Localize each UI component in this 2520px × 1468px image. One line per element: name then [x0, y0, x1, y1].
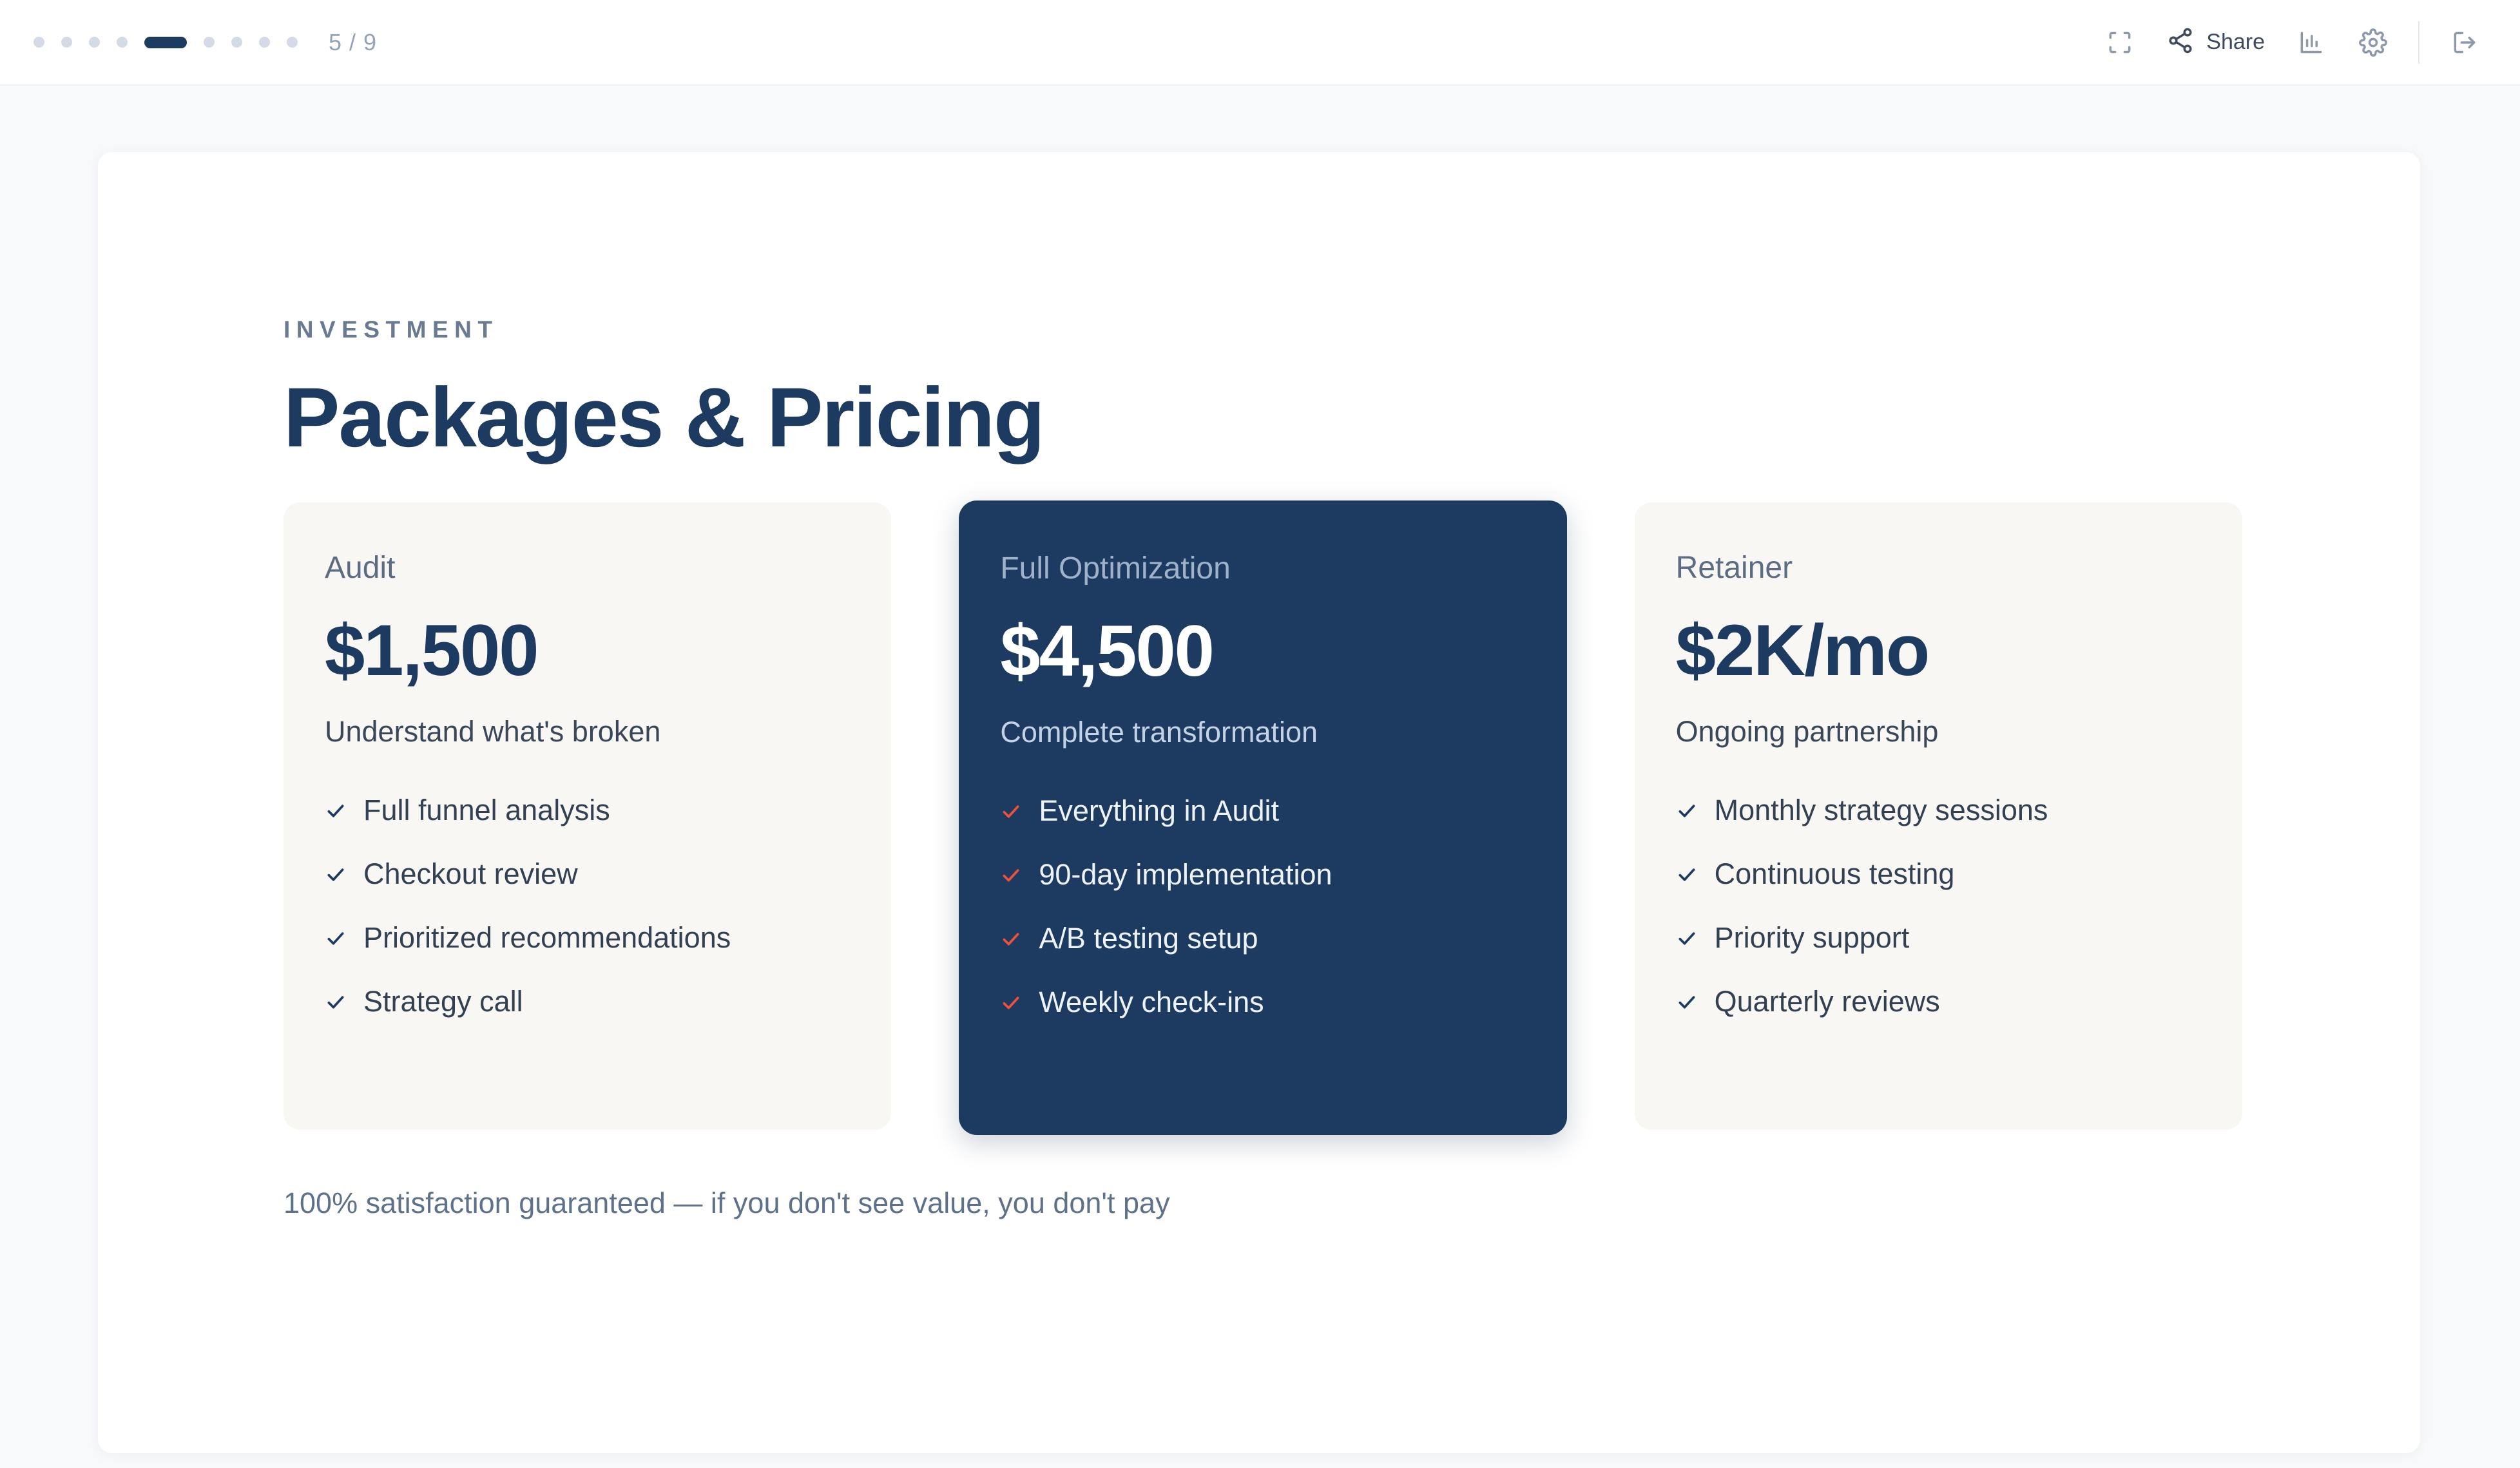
check-icon [325, 991, 347, 1013]
feature-label: Weekly check-ins [1039, 985, 1264, 1020]
feature-item: A/B testing setup [1000, 921, 1525, 957]
feature-item: Continuous testing [1676, 857, 2201, 892]
pagination-dot[interactable] [259, 37, 270, 48]
pagination-dot[interactable] [34, 37, 44, 48]
pagination-dots[interactable] [34, 37, 298, 48]
package-price: $1,500 [325, 613, 850, 689]
check-icon [1000, 864, 1022, 886]
pagination-dot[interactable] [204, 37, 215, 48]
feature-label: Checkout review [363, 857, 578, 892]
package-feature-list: Full funnel analysisCheckout reviewPrior… [325, 793, 850, 1020]
pricing-card[interactable]: Audit$1,500Understand what's brokenFull … [284, 502, 891, 1130]
package-name: Audit [325, 551, 850, 586]
page-title: Packages & Pricing [284, 372, 2242, 462]
check-icon [1000, 801, 1022, 823]
slide-content: INVESTMENT Packages & Pricing Audit$1,50… [284, 316, 2242, 1222]
feature-label: Prioritized recommendations [363, 920, 731, 956]
check-icon [1676, 928, 1698, 949]
pricing-card[interactable]: Retainer$2K/moOngoing partnershipMonthly… [1635, 502, 2242, 1130]
feature-item: Monthly strategy sessions [1676, 793, 2201, 828]
pagination-dot[interactable] [117, 37, 128, 48]
feature-item: Priority support [1676, 920, 2201, 956]
check-icon [1000, 992, 1022, 1014]
slide-navigation: 5 / 9 [26, 29, 377, 56]
feature-item: Checkout review [325, 857, 850, 892]
gear-icon [2359, 28, 2387, 57]
exit-icon [2450, 28, 2479, 57]
pricing-card-grid: Audit$1,500Understand what's brokenFull … [284, 502, 2242, 1135]
pagination-dot[interactable] [89, 37, 100, 48]
feature-label: Everything in Audit [1039, 794, 1279, 829]
package-name: Full Optimization [1000, 552, 1525, 586]
page-counter: 5 / 9 [329, 29, 377, 56]
pagination-dot[interactable] [287, 37, 298, 48]
slide-canvas: INVESTMENT Packages & Pricing Audit$1,50… [98, 152, 2420, 1453]
feature-item: Full funnel analysis [325, 793, 850, 828]
pricing-card-featured[interactable]: Full Optimization$4,500Complete transfor… [959, 500, 1566, 1135]
share-icon [2166, 26, 2195, 58]
feature-label: Continuous testing [1715, 857, 1955, 892]
check-icon [325, 864, 347, 886]
share-button[interactable]: Share [2151, 15, 2280, 70]
package-name: Retainer [1676, 551, 2201, 586]
toolbar-actions: Share [2089, 15, 2496, 70]
feature-item: Prioritized recommendations [325, 920, 850, 956]
feature-label: 90-day implementation [1039, 857, 1332, 893]
feature-item: Weekly check-ins [1000, 985, 1525, 1020]
feature-label: Full funnel analysis [363, 793, 610, 828]
bar-chart-icon [2297, 28, 2325, 57]
check-icon [1676, 864, 1698, 886]
fullscreen-button[interactable] [2089, 15, 2151, 70]
pagination-dot[interactable] [231, 37, 242, 48]
package-description: Ongoing partnership [1676, 714, 2201, 749]
guarantee-note: 100% satisfaction guaranteed — if you do… [284, 1185, 2242, 1221]
toolbar-divider [2418, 21, 2419, 64]
feature-item: 90-day implementation [1000, 857, 1525, 893]
feature-item: Quarterly reviews [1676, 984, 2201, 1020]
exit-button[interactable] [2434, 15, 2496, 70]
package-description: Understand what's broken [325, 714, 850, 749]
feature-label: Priority support [1715, 920, 1910, 956]
share-label: Share [2206, 30, 2265, 55]
feature-label: Monthly strategy sessions [1715, 793, 2048, 828]
feature-label: Quarterly reviews [1715, 984, 1940, 1020]
analytics-button[interactable] [2280, 15, 2342, 70]
pagination-dot[interactable] [61, 37, 72, 48]
section-eyebrow: INVESTMENT [284, 316, 2242, 343]
package-price: $4,500 [1000, 613, 1525, 689]
package-feature-list: Everything in Audit90-day implementation… [1000, 794, 1525, 1020]
settings-button[interactable] [2342, 15, 2404, 70]
top-toolbar: 5 / 9 S [0, 0, 2520, 86]
package-feature-list: Monthly strategy sessionsContinuous test… [1676, 793, 2201, 1020]
check-icon [325, 928, 347, 949]
feature-item: Strategy call [325, 984, 850, 1020]
check-icon [325, 800, 347, 822]
feature-label: Strategy call [363, 984, 523, 1020]
check-icon [1676, 991, 1698, 1013]
check-icon [1676, 800, 1698, 822]
package-price: $2K/mo [1676, 613, 2201, 689]
feature-item: Everything in Audit [1000, 794, 1525, 829]
check-icon [1000, 928, 1022, 950]
pagination-dot-active[interactable] [144, 37, 187, 48]
package-description: Complete transformation [1000, 715, 1525, 750]
fullscreen-icon [2106, 28, 2134, 57]
feature-label: A/B testing setup [1039, 921, 1258, 957]
